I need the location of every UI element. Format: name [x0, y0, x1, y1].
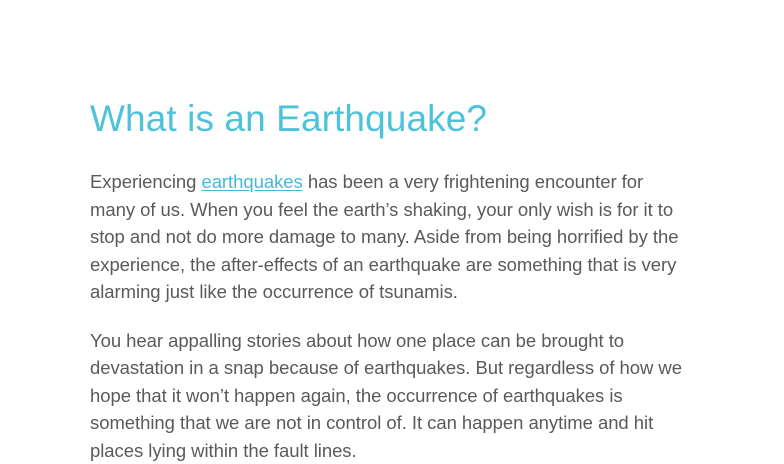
document-page: What is an Earthquake? Experiencing eart… — [0, 0, 784, 441]
article-paragraph-2: You hear appalling stories about how one… — [90, 306, 692, 464]
article-paragraph-1: Experiencing earthquakes has been a very… — [90, 141, 692, 306]
article-content: What is an Earthquake? Experiencing eart… — [90, 0, 692, 464]
page-title: What is an Earthquake? — [90, 0, 692, 141]
earthquakes-link[interactable]: earthquakes — [201, 171, 302, 192]
paragraph-1-text-before-link: Experiencing — [90, 171, 201, 192]
